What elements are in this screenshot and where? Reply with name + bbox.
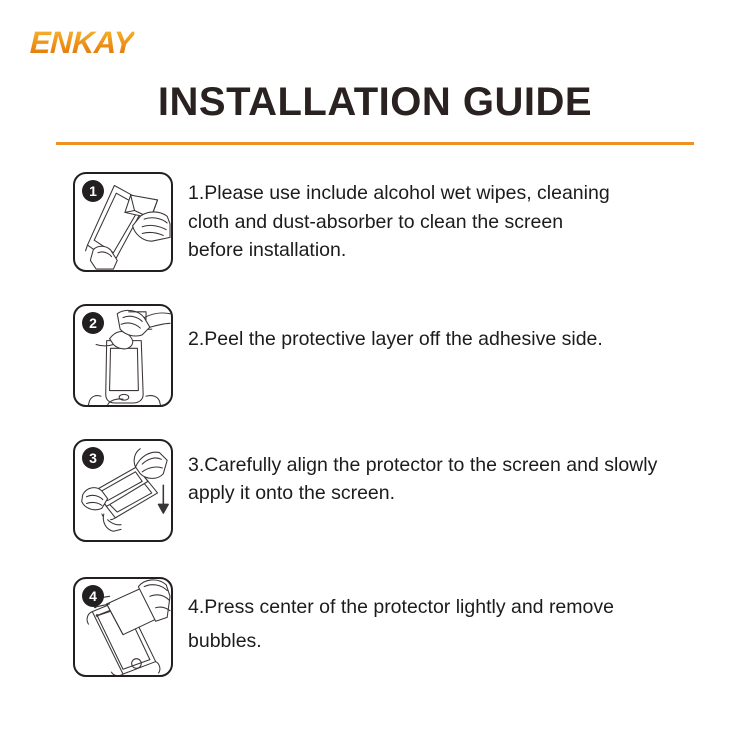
step-item: 4 4.Press center of the protector lightl… [0, 577, 750, 697]
installation-guide-page: ENKAY INSTALLATION GUIDE [0, 0, 750, 750]
step-text: 4.Press center of the protector lightly … [173, 577, 750, 658]
step-text: 1.Please use include alcohol wet wipes, … [173, 172, 750, 265]
title-divider [56, 142, 694, 145]
step-text: 2.Peel the protective layer off the adhe… [173, 304, 750, 353]
step-illustration-2: 2 [73, 304, 173, 407]
step-text: 3.Carefully align the protector to the s… [173, 439, 750, 507]
step-illustration-3: 3 [73, 439, 173, 542]
step-item: 2 2.Peel the protective layer off the ad… [0, 304, 750, 439]
step-badge: 1 [82, 180, 104, 202]
step-badge: 3 [82, 447, 104, 469]
page-title: INSTALLATION GUIDE [0, 80, 750, 125]
steps-list: 1 1.Please use include alcohol wet wipes… [0, 172, 750, 697]
brand-logo: ENKAY [29, 27, 134, 58]
step-illustration-1: 1 [73, 172, 173, 272]
step-illustration-4: 4 [73, 577, 173, 677]
step-item: 1 1.Please use include alcohol wet wipes… [0, 172, 750, 304]
step-item: 3 3.Carefully align the protector to the… [0, 439, 750, 577]
step-badge: 4 [82, 585, 104, 607]
step-badge: 2 [82, 312, 104, 334]
